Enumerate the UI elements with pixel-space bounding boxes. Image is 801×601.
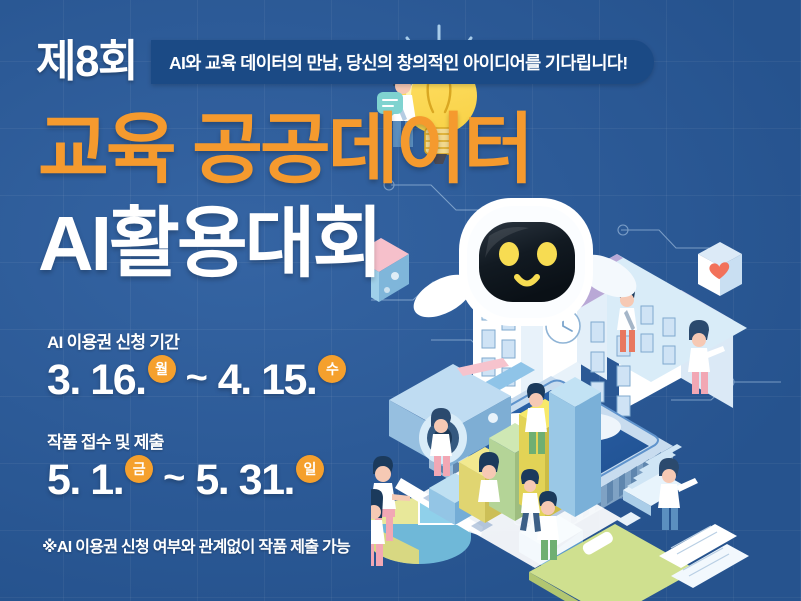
poster-canvas: 제8회 AI와 교육 데이터의 만남, 당신의 창의적인 아이디어를 기다립니다… [0, 0, 801, 601]
title-line-2: AI활용대회 [38, 206, 380, 283]
schedule-block-application: AI 이용권 신청 기간 3. 16. 월 ~ 4. 15. 수 [47, 328, 346, 402]
schedule-start-day-badge: 월 [148, 355, 176, 383]
schedule-end-day-badge: 수 [318, 355, 346, 383]
title-line-1: 교육 공공데이터 [38, 112, 531, 189]
schedule-block-submission: 작품 접수 및 제출 5. 1. 금 ~ 5. 31. 일 [47, 428, 324, 502]
schedule-start-day-badge: 금 [125, 455, 153, 483]
schedule-end-date: 5. 31. [195, 459, 294, 502]
schedule-label: AI 이용권 신청 기간 [47, 328, 346, 353]
schedule-start-date: 5. 1. [47, 459, 123, 502]
tagline-banner: AI와 교육 데이터의 만남, 당신의 창의적인 아이디어를 기다립니다! [151, 40, 654, 84]
schedule-end-date: 4. 15. [218, 359, 317, 402]
footnote-text: ※AI 이용권 신청 여부와 관계없이 작품 제출 가능 [42, 533, 350, 557]
schedule-start-date: 3. 16. [47, 359, 146, 402]
tagline-text: AI와 교육 데이터의 만남, 당신의 창의적인 아이디어를 기다립니다! [169, 50, 628, 75]
header-row: 제8회 AI와 교육 데이터의 만남, 당신의 창의적인 아이디어를 기다립니다… [36, 36, 654, 88]
text-layer: 제8회 AI와 교육 데이터의 만남, 당신의 창의적인 아이디어를 기다립니다… [0, 0, 801, 601]
schedule-separator: ~ [163, 459, 185, 497]
schedule-label: 작품 접수 및 제출 [47, 428, 324, 453]
schedule-separator: ~ [186, 359, 208, 397]
schedule-date-row: 3. 16. 월 ~ 4. 15. 수 [47, 359, 346, 402]
schedule-end-day-badge: 일 [296, 455, 324, 483]
schedule-date-row: 5. 1. 금 ~ 5. 31. 일 [47, 459, 324, 502]
edition-label: 제8회 [36, 40, 137, 84]
